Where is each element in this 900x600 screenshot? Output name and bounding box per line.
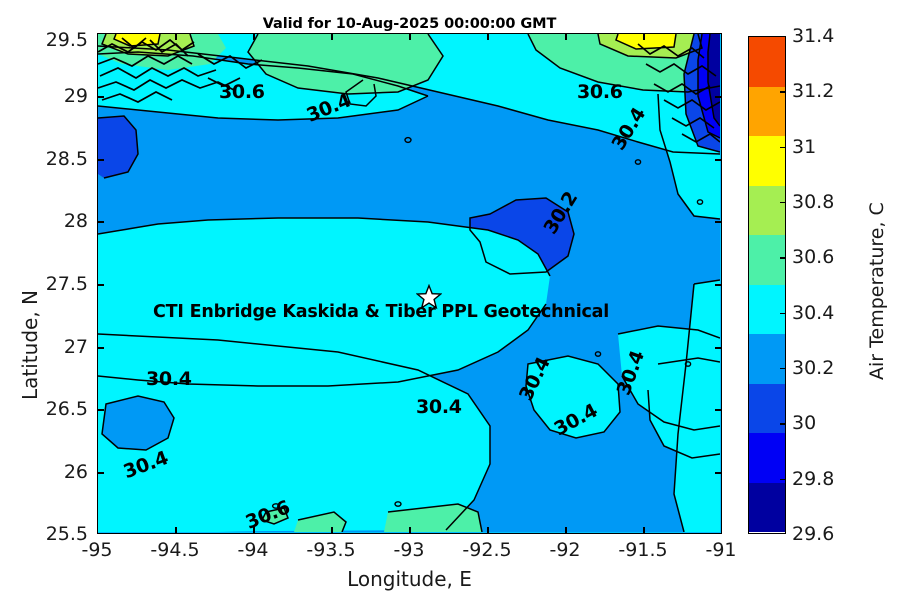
colorbar-band — [749, 87, 785, 137]
x-tick-label: -91 — [705, 539, 736, 561]
y-tick-label: 29.5 — [20, 29, 88, 51]
colorbar-tick — [780, 423, 786, 424]
colorbar-tick-label: 30.6 — [792, 246, 834, 268]
x-tick-label: -91.5 — [618, 539, 667, 561]
colorbar-tick-label: 31 — [792, 136, 816, 158]
contour-label: 30.4 — [416, 396, 462, 418]
colorbar-band — [749, 186, 785, 236]
contour-label: 30.4 — [146, 368, 192, 390]
colorbar-tick-label: 29.8 — [792, 468, 834, 490]
y-tick-label: 28.5 — [20, 148, 88, 170]
temperature-contour-field — [98, 34, 720, 532]
colorbar-band — [749, 37, 785, 87]
colorbar-band — [749, 384, 785, 434]
colorbar-band — [749, 235, 785, 285]
colorbar-tick — [780, 202, 786, 203]
x-tick-label: -92 — [549, 539, 580, 561]
x-tick-label: -93.5 — [306, 539, 355, 561]
colorbar-tick-label: 30.4 — [792, 302, 834, 324]
colorbar-tick — [780, 368, 786, 369]
colorbar-tick-label: 30.8 — [792, 191, 834, 213]
y-tick-label: 26.5 — [20, 398, 88, 420]
y-tick-label: 26 — [20, 461, 88, 483]
colorbar-band — [749, 285, 785, 335]
colorbar-tick-label: 31.4 — [792, 25, 834, 47]
colorbar-tick-label: 29.6 — [792, 523, 834, 545]
contour-plot-area[interactable]: 30.6 30.4 30.6 30.4 30.2 30.4 30.4 30.4 … — [97, 33, 722, 534]
colorbar-tick — [780, 479, 786, 480]
figure-canvas: Valid for 10-Aug-2025 00:00:00 GMT — [0, 0, 900, 600]
x-tick-label: -94 — [237, 539, 268, 561]
colorbar-tick-label: 30 — [792, 412, 816, 434]
x-tick-label: -93 — [393, 539, 424, 561]
colorbar-tick-label: 30.2 — [792, 357, 834, 379]
colorbar-tick — [780, 257, 786, 258]
site-annotation-label: CTI Enbridge Kaskida & Tiber PPL Geotech… — [153, 302, 609, 322]
colorbar[interactable] — [748, 36, 786, 534]
colorbar-tick-label: 31.2 — [792, 80, 834, 102]
y-tick-label: 29 — [20, 85, 88, 107]
colorbar-tick — [780, 147, 786, 148]
chart-title: Valid for 10-Aug-2025 00:00:00 GMT — [97, 16, 722, 32]
y-tick-label: 25.5 — [20, 523, 88, 545]
colorbar-band — [749, 433, 785, 483]
y-tick-label: 28 — [20, 210, 88, 232]
x-tick-label: -94.5 — [150, 539, 199, 561]
contour-label: 30.6 — [219, 81, 265, 103]
contour-label: 30.6 — [577, 81, 623, 103]
x-axis-title: Longitude, E — [97, 567, 722, 591]
colorbar-tick — [780, 313, 786, 314]
colorbar-band — [749, 136, 785, 186]
colorbar-band — [749, 483, 785, 533]
colorbar-tick — [780, 91, 786, 92]
x-tick-label: -92.5 — [462, 539, 511, 561]
colorbar-title: Air Temperature, C — [866, 202, 888, 380]
y-axis-title: Latitude, N — [18, 290, 42, 400]
colorbar-band — [749, 334, 785, 384]
